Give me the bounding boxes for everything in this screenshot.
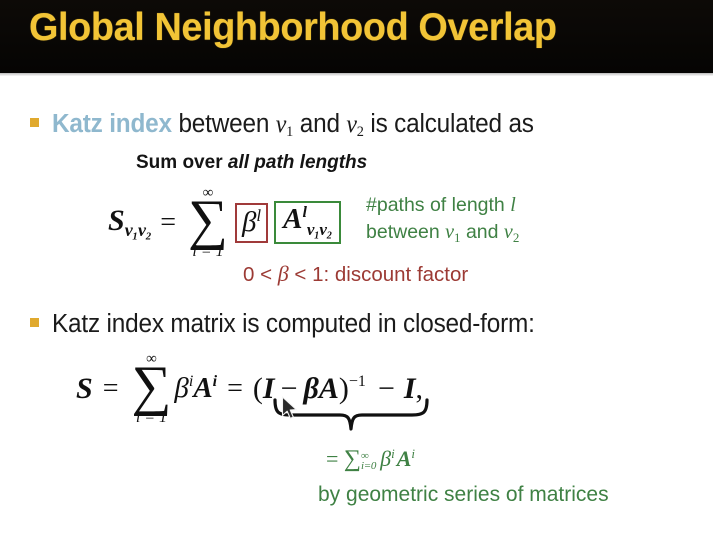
bullet-item-label: Katz index between v1 and v2 is calculat…: [52, 110, 534, 141]
formula1-summation: ∞ ∑ l = 1: [188, 186, 228, 260]
formula2-paren-open: (: [253, 372, 263, 405]
annotation-geo-beta-exponent: i: [391, 446, 395, 461]
formula2-sigma-lower-limit: i = 1: [136, 410, 167, 426]
annotation-paths-line-1: #paths of length l: [366, 192, 519, 219]
formula2-summation: ∞ ∑ i = 1: [131, 352, 171, 426]
annotation-geo-sigma-icon: ∑: [344, 446, 361, 472]
bullet-item-katz-index: Katz index between v1 and v2 is calculat…: [30, 110, 557, 141]
bullet1-text-2: and: [293, 110, 346, 138]
annotation-paths-line-2: between v1 and v2: [366, 219, 519, 246]
highlight-box-adjacency: Alv₁v₂: [274, 201, 341, 244]
annotation-discount-pre: 0 <: [243, 263, 278, 286]
formula1-sigma-lower-limit: l = 1: [192, 244, 223, 260]
formula2-equals-2: =: [227, 373, 243, 405]
annotation-paths-line1-text: #paths of length: [366, 194, 510, 216]
annotation-discount-beta: β: [278, 261, 289, 286]
formula2-equals-1: =: [103, 373, 119, 405]
formula1-A-subscript: v₁v₂: [307, 220, 332, 239]
title-divider: [0, 73, 713, 76]
annotation-paths-line2-text: between: [366, 221, 445, 243]
bullet1-text-1: between: [172, 110, 276, 138]
slide-title-bar: Global Neighborhood Overlap: [0, 0, 713, 73]
square-bullet-icon: [30, 318, 39, 327]
annotation-paths-of-length: #paths of length l between v1 and v2: [366, 192, 519, 246]
formula2-lhs: S: [76, 372, 93, 406]
formula1-A-exponent: l: [302, 204, 306, 221]
slide-canvas: Global Neighborhood Overlap Katz index b…: [0, 0, 713, 535]
formula1-beta-exponent: l: [256, 206, 261, 225]
annotation-geo-equals: =: [326, 446, 344, 471]
formula1-A-term: Alv₁v₂: [283, 203, 332, 235]
bullet-item-label: Katz index matrix is computed in closed-…: [52, 310, 535, 339]
formula2-A-symbol: A: [193, 372, 212, 404]
formula2-beta-term: βi: [174, 372, 193, 405]
sigma-icon: ∑: [188, 199, 228, 243]
underbrace-decoration: [272, 398, 432, 434]
annotation-geo-A: A: [397, 446, 412, 471]
formula2-inverse-exponent: −1: [349, 373, 366, 390]
formula1-A-symbol: A: [283, 203, 302, 235]
formula1-beta-term: βl: [242, 206, 261, 238]
formula2-A-term: Ai: [193, 372, 217, 405]
formula-katz-entry: Sv₁v₂ = ∞ ∑ l = 1 βl Alv₁v₂: [108, 186, 341, 260]
annotation-discount-factor: 0 < β < 1: discount factor: [243, 261, 468, 287]
sigma-icon: ∑: [131, 365, 171, 409]
bullet1-var-v1: v: [276, 111, 286, 138]
formula1-lhs-subscript: v₁v₂: [125, 220, 152, 240]
bullet-item-closed-form: Katz index matrix is computed in closed-…: [30, 310, 557, 339]
katz-index-accent: Katz index: [52, 110, 172, 138]
formula1-equals: =: [160, 207, 176, 239]
annotation-paths-line2-v1: v: [445, 221, 454, 243]
highlight-box-beta: βl: [235, 203, 268, 243]
annotation-geometric-series-label: by geometric series of matrices: [318, 483, 609, 507]
sum-over-caption: Sum over all path lengths: [136, 152, 367, 174]
annotation-paths-line1-var: l: [510, 194, 516, 216]
annotation-paths-line2-v2: v: [504, 221, 513, 243]
annotation-geometric-sum: = ∑∞i=0βiAi: [326, 446, 415, 473]
formula1-beta-symbol: β: [242, 206, 256, 238]
annotation-paths-line2-v2-sub: 2: [513, 230, 520, 245]
sum-caption-plain: Sum over: [136, 152, 228, 173]
formula1-lhs-symbol: S: [108, 204, 125, 237]
annotation-paths-line2-and: and: [461, 221, 504, 243]
formula2-beta-symbol: β: [174, 372, 188, 404]
page-title: Global Neighborhood Overlap: [29, 6, 557, 50]
bullet1-var-v2: v: [346, 111, 356, 138]
underbrace-icon: [272, 398, 432, 434]
annotation-geo-lower-limit: i=0: [361, 461, 376, 471]
annotation-discount-post: < 1: discount factor: [289, 263, 468, 286]
square-bullet-icon: [30, 118, 39, 127]
sum-caption-italic: all path lengths: [228, 152, 367, 173]
annotation-geo-beta: β: [380, 446, 391, 471]
formula2-A-exponent: i: [213, 373, 217, 390]
annotation-geo-A-exponent: i: [411, 446, 415, 461]
bullet1-text-3: is calculated as: [364, 110, 534, 138]
formula1-lhs: Sv₁v₂: [108, 204, 151, 241]
bullet1-var-v1-sub: 1: [286, 124, 293, 140]
